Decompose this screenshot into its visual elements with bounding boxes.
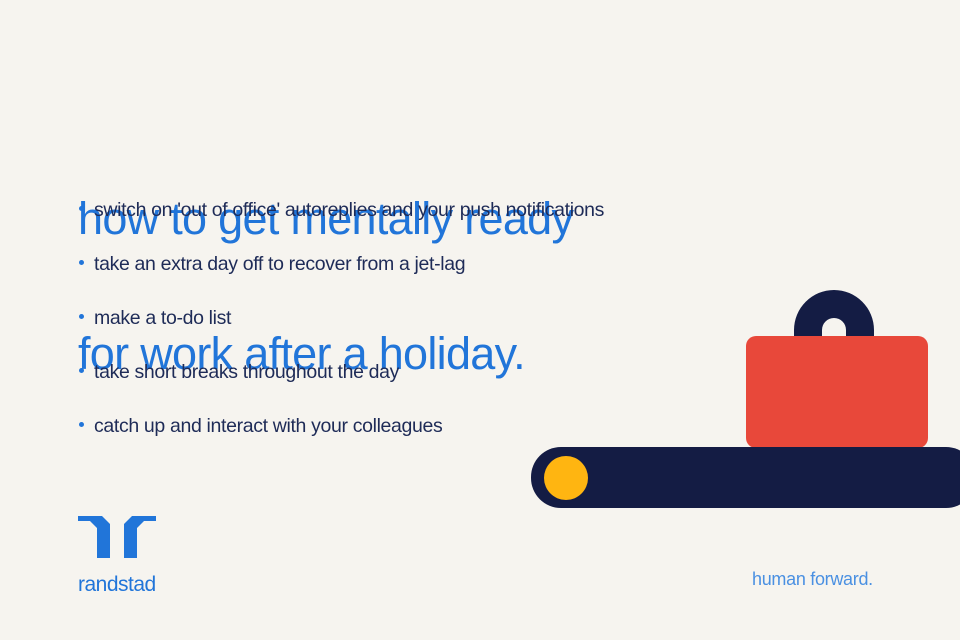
list-item-label: take an extra day off to recover from a … <box>94 253 465 275</box>
randstad-y-mark-icon <box>78 516 156 558</box>
list-item-label: catch up and interact with your colleagu… <box>94 415 442 437</box>
list-item: make a to-do list <box>78 305 718 359</box>
tips-list: switch on 'out of office' autoreplies an… <box>78 197 718 467</box>
bullet-dot-icon <box>79 314 84 319</box>
suitcase-body <box>746 336 928 448</box>
poster-canvas: how to get mentally ready for work after… <box>0 0 960 640</box>
list-item-label: switch on 'out of office' autoreplies an… <box>94 199 604 221</box>
list-item: take an extra day off to recover from a … <box>78 251 718 305</box>
list-item: take short breaks throughout the day <box>78 359 718 413</box>
list-item-label: take short breaks throughout the day <box>94 361 399 383</box>
brand-logo: randstad <box>78 516 156 595</box>
list-item: switch on 'out of office' autoreplies an… <box>78 197 718 251</box>
bullet-dot-icon <box>79 422 84 427</box>
list-item: catch up and interact with your colleagu… <box>78 413 718 467</box>
list-item-label: make a to-do list <box>94 307 231 329</box>
suitcase-handle-icon <box>794 290 874 352</box>
brand-tagline: human forward. <box>752 568 873 590</box>
bullet-dot-icon <box>79 206 84 211</box>
bullet-dot-icon <box>79 260 84 265</box>
brand-wordmark: randstad <box>78 574 156 595</box>
bullet-dot-icon <box>79 368 84 373</box>
